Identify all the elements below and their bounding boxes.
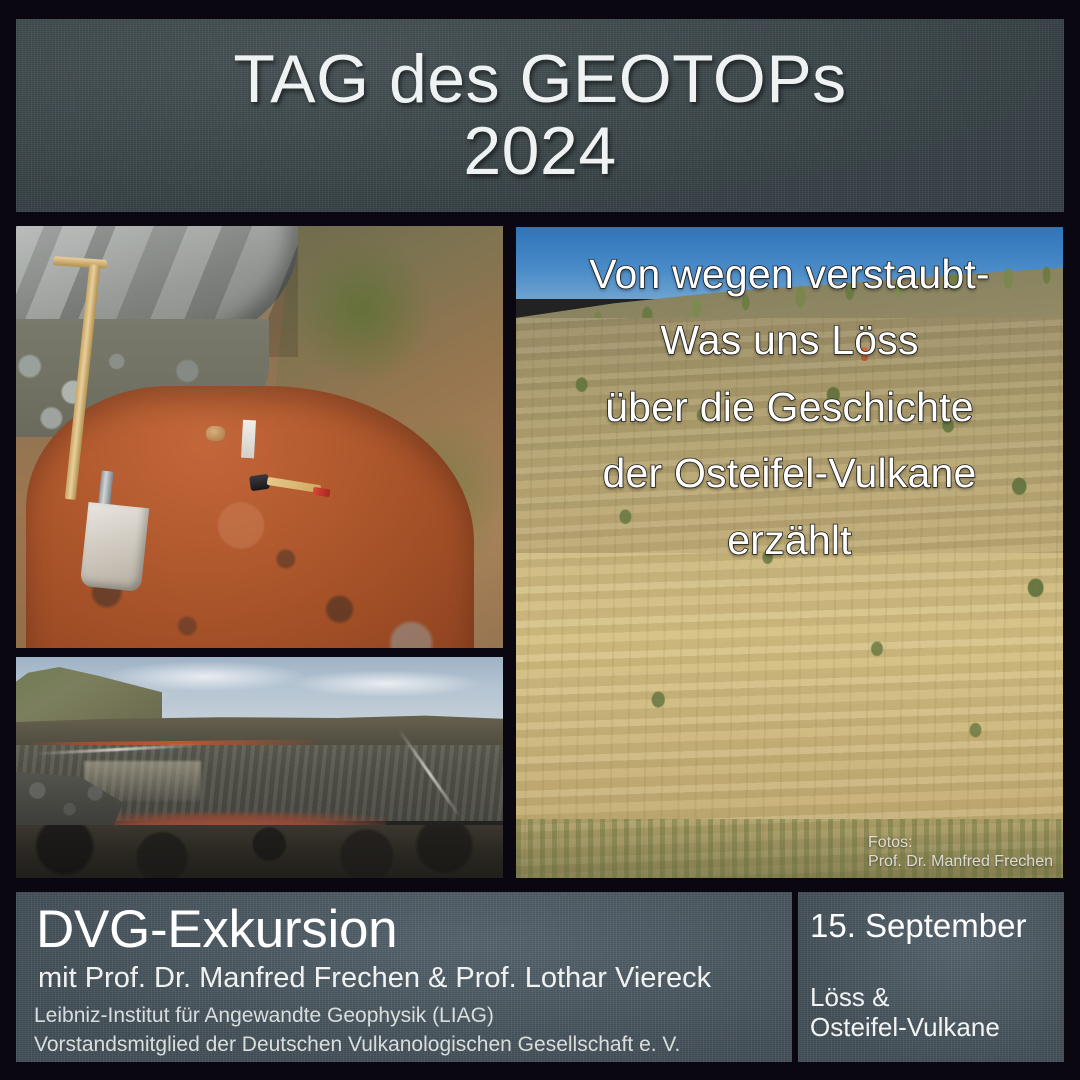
quarry-floor (16, 825, 503, 878)
event-leaders: mit Prof. Dr. Manfred Frechen & Prof. Lo… (38, 962, 792, 994)
quarry-cloud-2 (289, 670, 484, 697)
headline-line-5: erzählt (522, 507, 1057, 573)
outcrop-sample-cylinder (206, 426, 225, 441)
poster-title-line-1: TAG des GEOTOPs (233, 45, 846, 114)
affiliation-line-1: Leibniz-Institut für Angewandte Geophysi… (34, 1003, 792, 1029)
event-date: 15. September (810, 908, 1064, 944)
photo-credit: Fotos: Prof. Dr. Manfred Frechen (868, 833, 1053, 872)
affiliation-line-2: Vorstandsmitglied der Deutschen Vulkanol… (34, 1032, 792, 1058)
spade-blade (80, 502, 149, 592)
poster-canvas: TAG des GEOTOPs 2024 (0, 0, 1080, 1080)
photo-credit-label: Fotos: (868, 833, 1053, 853)
headline-block: Von wegen verstaubt- Was uns Löss über d… (516, 241, 1063, 573)
footer-right-panel: 15. September Löss & Osteifel-Vulkane (798, 892, 1064, 1062)
headline-line-2: Was uns Löss (522, 307, 1057, 373)
headline-line-3: über die Geschichte (522, 374, 1057, 440)
photo-credit-name: Prof. Dr. Manfred Frechen (868, 852, 1053, 872)
event-topic-line-2: Osteifel-Vulkane (810, 1012, 1064, 1042)
photo-outcrop (16, 226, 503, 648)
photo-quarry (16, 657, 503, 878)
title-panel: TAG des GEOTOPs 2024 (16, 19, 1064, 212)
poster-title-line-2: 2024 (463, 117, 616, 186)
photo-loess-wall: Von wegen verstaubt- Was uns Löss über d… (516, 227, 1063, 878)
event-topic: Löss & Osteifel-Vulkane (798, 982, 1064, 1042)
headline-line-4: der Osteifel-Vulkane (522, 440, 1057, 506)
outcrop-scale-tag (241, 420, 256, 459)
event-title: DVG-Exkursion (36, 902, 792, 958)
headline-line-1: Von wegen verstaubt- (522, 241, 1057, 307)
event-topic-line-1: Löss & (810, 982, 1064, 1012)
outcrop-vegetation-upper (289, 234, 435, 386)
footer-left-panel: DVG-Exkursion mit Prof. Dr. Manfred Frec… (16, 892, 792, 1062)
